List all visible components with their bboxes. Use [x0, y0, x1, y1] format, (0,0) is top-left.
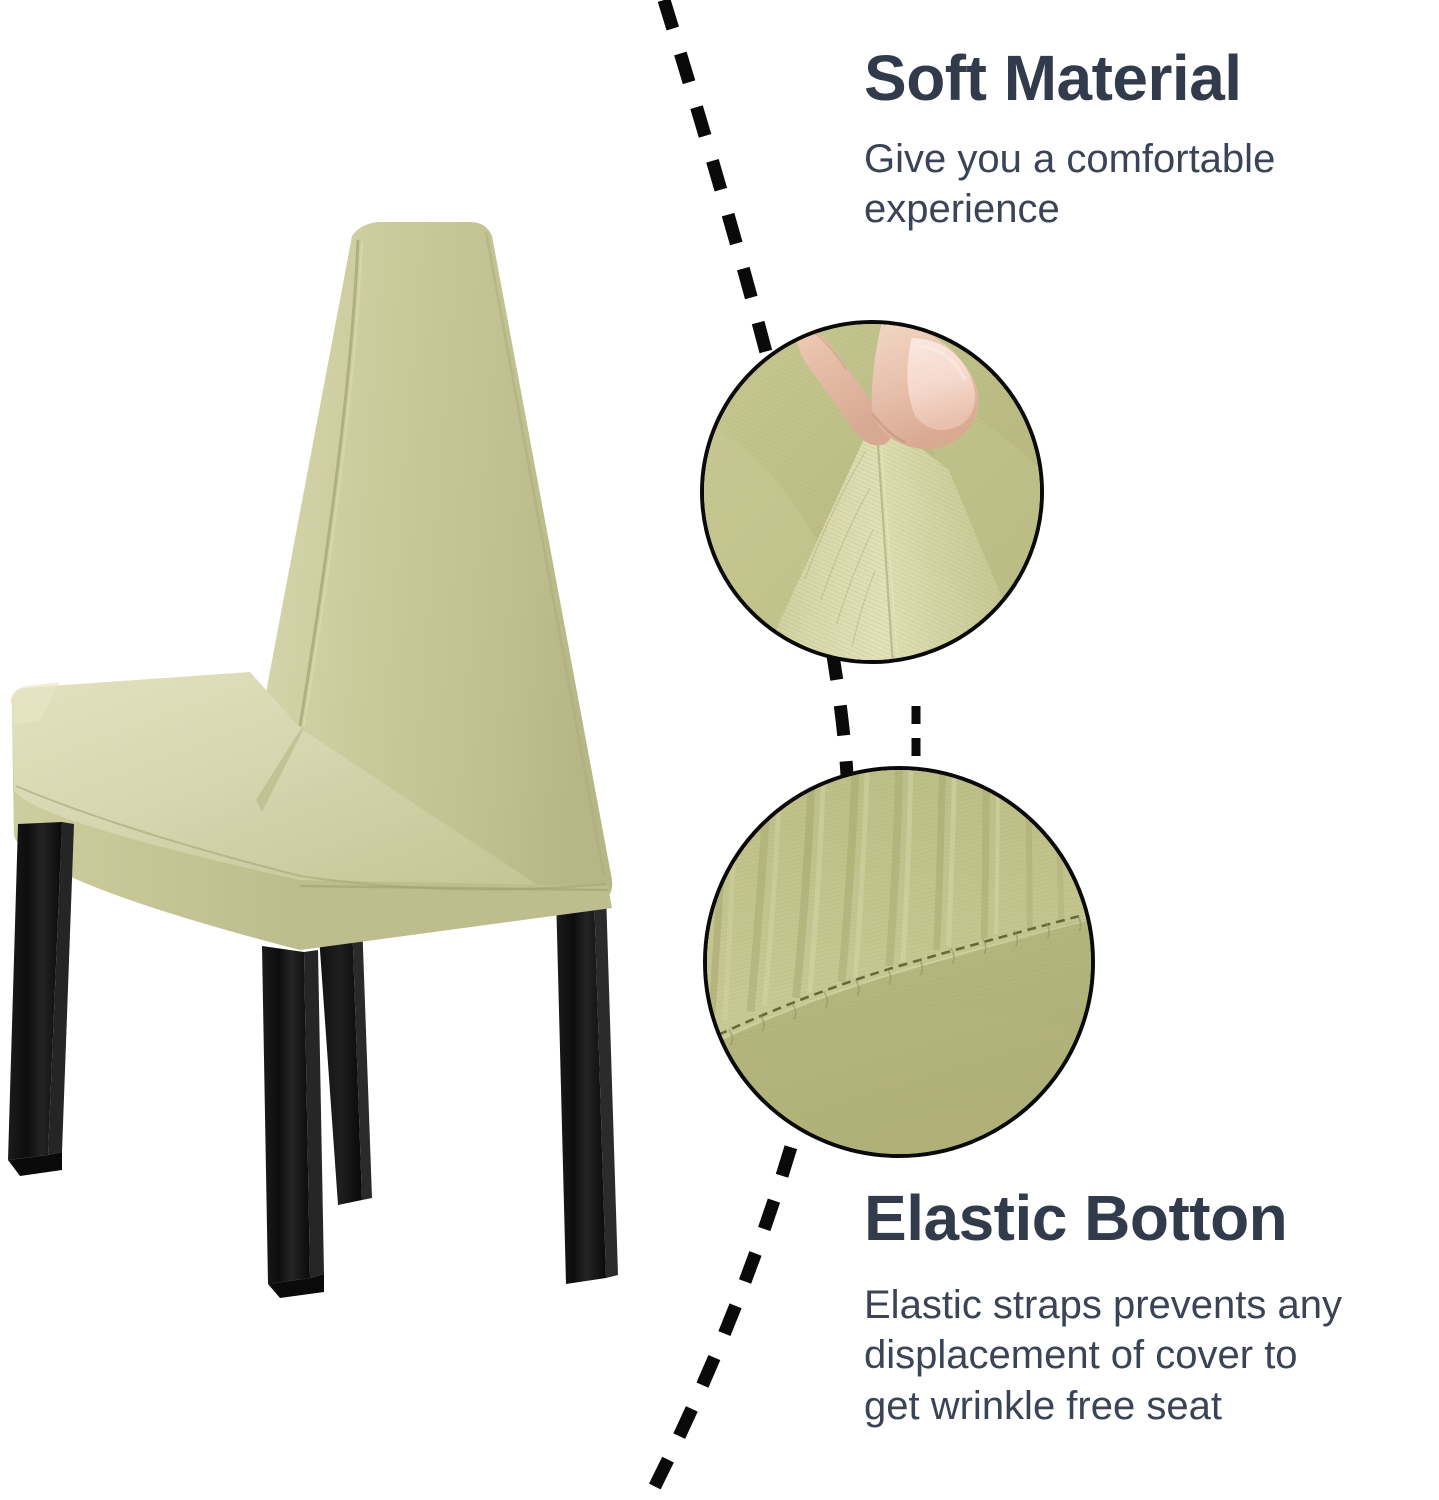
description-line: get wrinkle free seat: [864, 1381, 1342, 1431]
description-line: displacement of cover to: [864, 1330, 1342, 1380]
description-line: Give you a comfortable: [864, 134, 1275, 184]
feature-heading-elastic-botton: Elastic Botton: [864, 1186, 1342, 1250]
feature-block-soft-material: Soft Material Give you a comfortable exp…: [864, 46, 1275, 235]
infographic-canvas: Soft Material Give you a comfortable exp…: [0, 0, 1439, 1500]
description-line: Elastic straps prevents any: [864, 1280, 1342, 1330]
description-line: experience: [864, 184, 1275, 234]
inset-elastic-bottom-photo: [703, 766, 1095, 1158]
feature-description-soft-material: Give you a comfortable experience: [864, 134, 1275, 235]
feature-block-elastic-botton: Elastic Botton Elastic straps prevents a…: [864, 1186, 1342, 1431]
feature-heading-soft-material: Soft Material: [864, 46, 1275, 110]
feature-description-elastic-botton: Elastic straps prevents any displacement…: [864, 1280, 1342, 1431]
